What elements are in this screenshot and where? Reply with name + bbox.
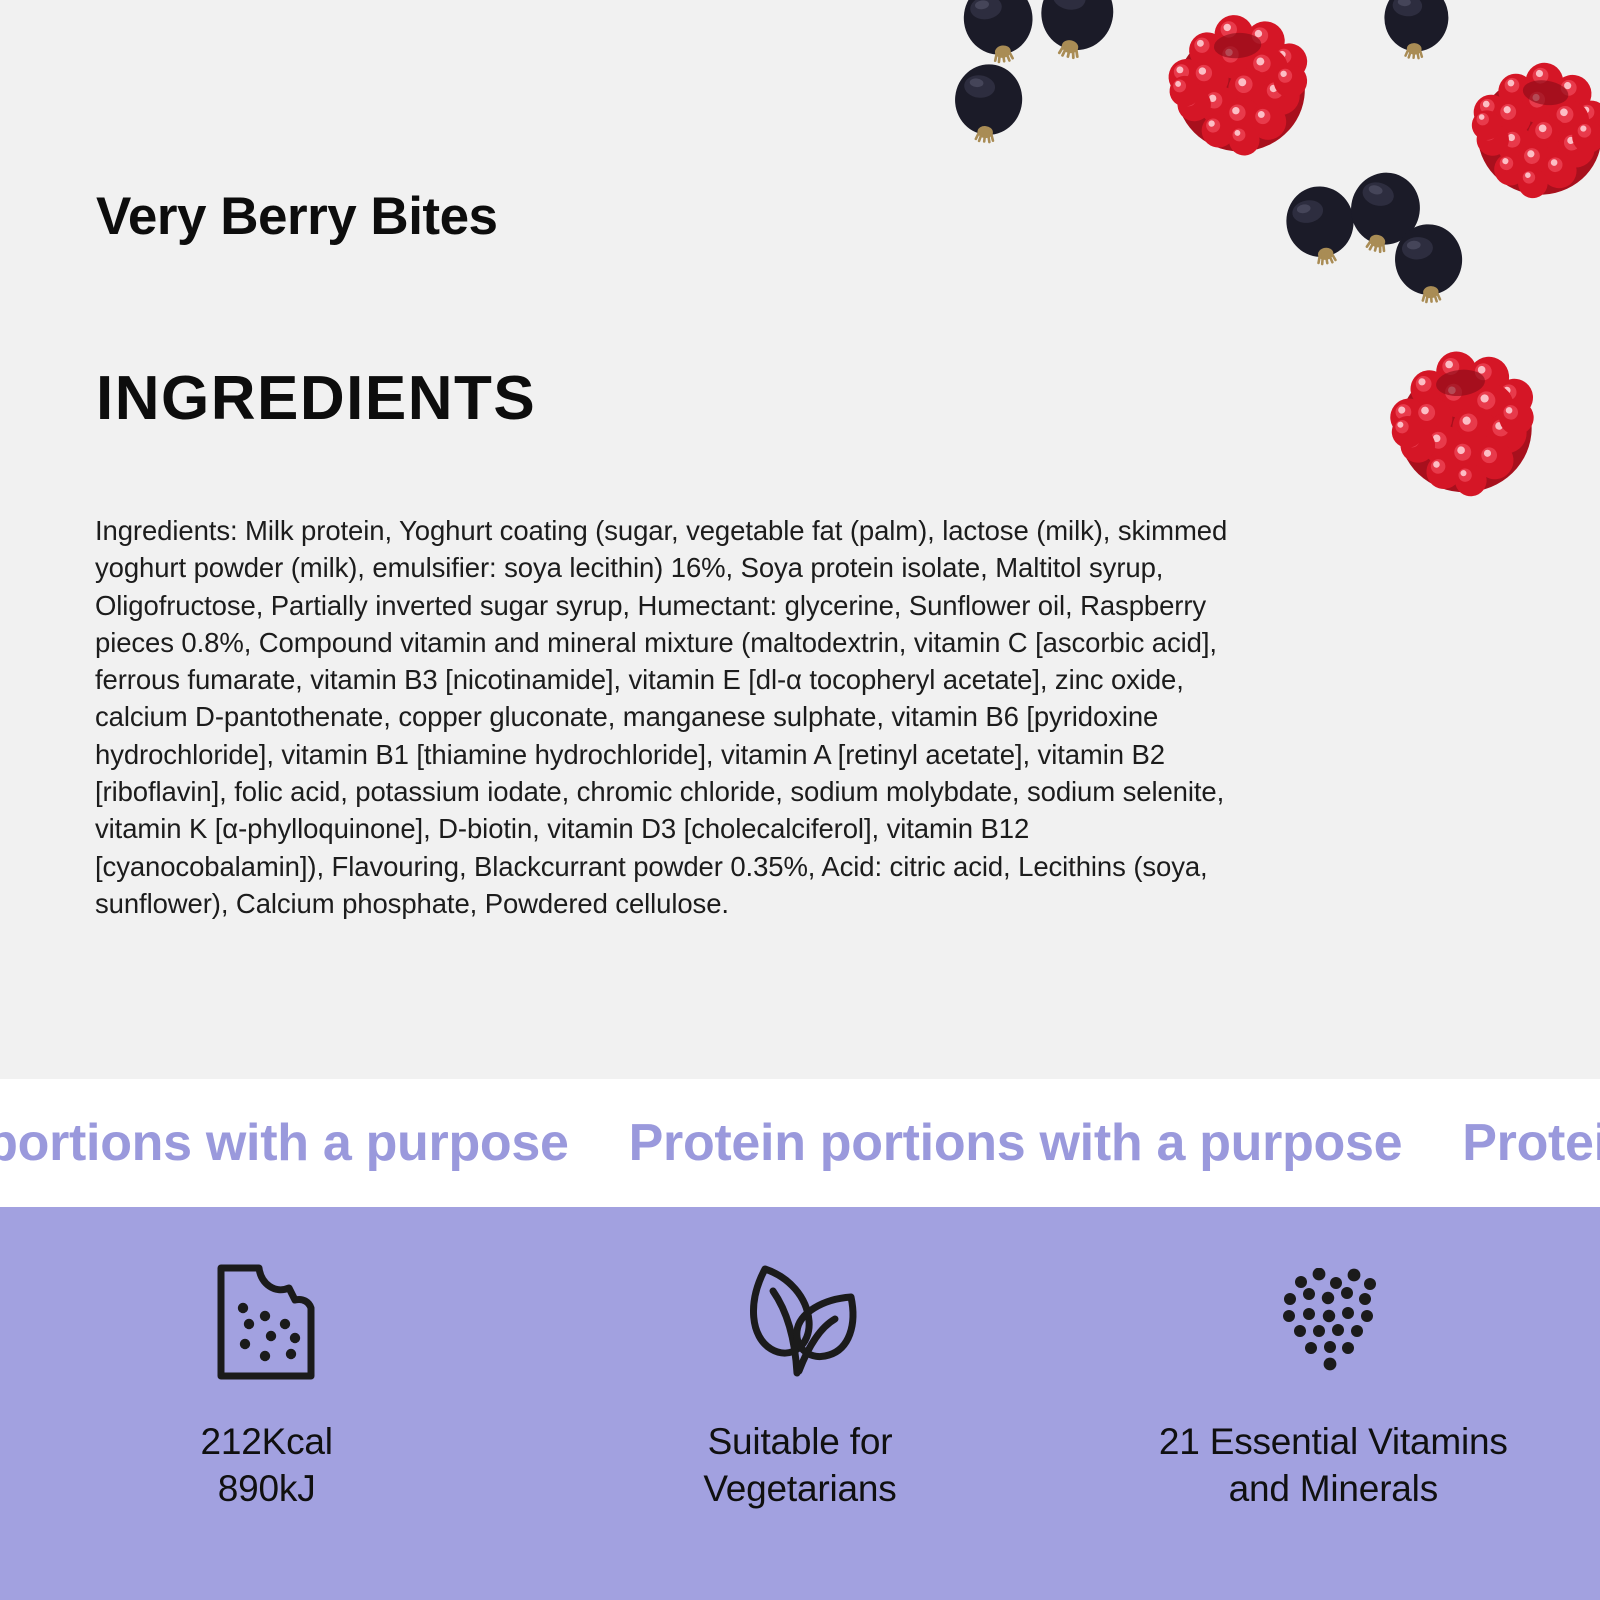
ingredients-panel: Very Berry Bites INGREDIENTS Ingredients… (0, 0, 1600, 1079)
blackcurrant-berry (1372, 0, 1460, 70)
marquee-item: Protein portions with a purpose (629, 1117, 1463, 1169)
raspberry-berry (1461, 51, 1600, 214)
benefit-calories-label: 212Kcal 890kJ (201, 1418, 333, 1512)
section-heading-ingredients: INGREDIENTS (96, 368, 536, 430)
blackcurrant-berry (1330, 159, 1438, 271)
blackcurrant-berry (1383, 217, 1475, 314)
bitten-protein-bar-icon (213, 1262, 321, 1382)
blackcurrant-berry (1021, 0, 1131, 76)
benefit-vitamins-label: 21 Essential Vitamins and Minerals (1159, 1418, 1508, 1512)
raspberry-berry (1382, 341, 1547, 511)
raspberry-berry (1163, 7, 1318, 167)
blackcurrant-berry (949, 0, 1049, 77)
product-title: Very Berry Bites (96, 190, 498, 243)
benefits-strip: 212Kcal 890kJ Suitable for Vegetarians (0, 1207, 1600, 1600)
marquee-banner: Protein portions with a purposeProtein p… (0, 1079, 1600, 1207)
benefit-vegetarian: Suitable for Vegetarians (580, 1262, 1020, 1512)
benefit-vitamins: 21 Essential Vitamins and Minerals (1113, 1262, 1553, 1512)
blackcurrant-berry (1271, 175, 1371, 280)
marquee-item: Protein portions with a purpose (1462, 1117, 1600, 1169)
blackcurrant-berry (940, 56, 1035, 155)
two-leaves-icon (737, 1262, 863, 1382)
marquee-item: Protein portions with a purpose (0, 1117, 629, 1169)
ingredients-list-text: Ingredients: Milk protein, Yoghurt coati… (95, 512, 1265, 922)
dotted-heart-icon (1276, 1262, 1390, 1382)
benefit-vegetarian-label: Suitable for Vegetarians (703, 1418, 896, 1512)
marquee-track: Protein portions with a purposeProtein p… (0, 1117, 1600, 1169)
benefit-calories: 212Kcal 890kJ (47, 1262, 487, 1512)
